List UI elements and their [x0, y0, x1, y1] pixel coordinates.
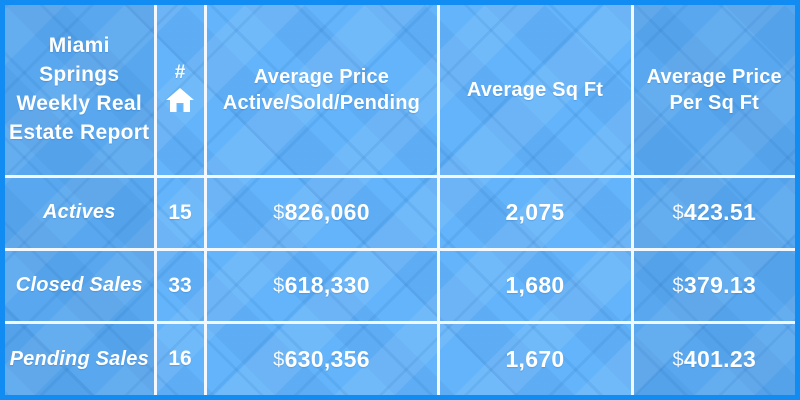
header-average-price-line2: Active/Sold/Pending — [211, 90, 433, 116]
row-average-price: $618,330 — [273, 272, 370, 298]
report-card: Miami Springs Weekly Real Estate Report … — [0, 0, 800, 400]
row-label: Actives — [43, 201, 116, 223]
row-count-cell: 15 — [155, 177, 205, 250]
row-average-sqft-cell: 1,670 — [438, 322, 632, 395]
row-price-per-sqft: $379.13 — [672, 272, 756, 298]
header-cell-average-price: Average Price Active/Sold/Pending — [205, 5, 438, 177]
row-price-per-sqft-cell: $401.23 — [632, 322, 795, 395]
row-average-price-value: 618,330 — [285, 272, 370, 298]
row-average-sqft-cell: 2,075 — [438, 177, 632, 250]
row-average-price-cell: $826,060 — [205, 177, 438, 250]
header-average-sqft: Average Sq Ft — [444, 77, 627, 103]
table-row: Closed Sales 33 $618,330 1,680 $379.13 — [5, 249, 795, 322]
row-average-price-value: 826,060 — [285, 199, 370, 225]
row-price-per-sqft-cell: $423.51 — [632, 177, 795, 250]
row-count: 15 — [168, 201, 191, 224]
row-label-cell: Pending Sales — [5, 322, 155, 395]
header-cell-title: Miami Springs Weekly Real Estate Report — [5, 5, 155, 177]
header-cell-average-sqft: Average Sq Ft — [438, 5, 632, 177]
row-price-per-sqft-value: 401.23 — [684, 346, 756, 372]
currency-symbol: $ — [273, 275, 284, 297]
row-average-sqft: 2,075 — [505, 199, 564, 225]
page-title: Miami Springs Weekly Real Estate Report — [9, 32, 150, 148]
table-row: Pending Sales 16 $630,356 1,670 $401.23 — [5, 322, 795, 395]
house-icon — [161, 87, 200, 118]
hash-symbol: # — [161, 63, 200, 82]
header-price-per-sqft-line2: Per Sq Ft — [638, 90, 792, 116]
header-cell-price-per-sqft: Average Price Per Sq Ft — [632, 5, 795, 177]
row-label: Pending Sales — [10, 348, 149, 370]
row-label-cell: Closed Sales — [5, 249, 155, 322]
row-average-sqft: 1,680 — [505, 272, 564, 298]
row-price-per-sqft: $423.51 — [672, 199, 756, 225]
header-cell-count: # — [155, 5, 205, 177]
row-average-price-cell: $618,330 — [205, 249, 438, 322]
row-label-cell: Actives — [5, 177, 155, 250]
row-price-per-sqft-cell: $379.13 — [632, 249, 795, 322]
currency-symbol: $ — [672, 349, 683, 371]
header-price-per-sqft-line1: Average Price — [638, 64, 792, 90]
row-average-price: $826,060 — [273, 199, 370, 225]
table-header-row: Miami Springs Weekly Real Estate Report … — [5, 5, 795, 177]
header-average-price-line1: Average Price — [211, 64, 433, 90]
row-average-price-cell: $630,356 — [205, 322, 438, 395]
row-average-price: $630,356 — [273, 346, 370, 372]
row-count-cell: 16 — [155, 322, 205, 395]
row-average-price-value: 630,356 — [285, 346, 370, 372]
currency-symbol: $ — [672, 275, 683, 297]
row-label: Closed Sales — [16, 274, 143, 296]
row-price-per-sqft: $401.23 — [672, 346, 756, 372]
row-count: 33 — [168, 274, 191, 297]
row-average-sqft-cell: 1,680 — [438, 249, 632, 322]
row-price-per-sqft-value: 423.51 — [684, 199, 756, 225]
real-estate-report-table: Miami Springs Weekly Real Estate Report … — [5, 5, 795, 395]
row-count-cell: 33 — [155, 249, 205, 322]
row-average-sqft: 1,670 — [505, 346, 564, 372]
row-count: 16 — [168, 347, 191, 370]
row-price-per-sqft-value: 379.13 — [684, 272, 756, 298]
currency-symbol: $ — [672, 202, 683, 224]
currency-symbol: $ — [273, 349, 284, 371]
table-row: Actives 15 $826,060 2,075 $423.51 — [5, 177, 795, 250]
currency-symbol: $ — [273, 202, 284, 224]
